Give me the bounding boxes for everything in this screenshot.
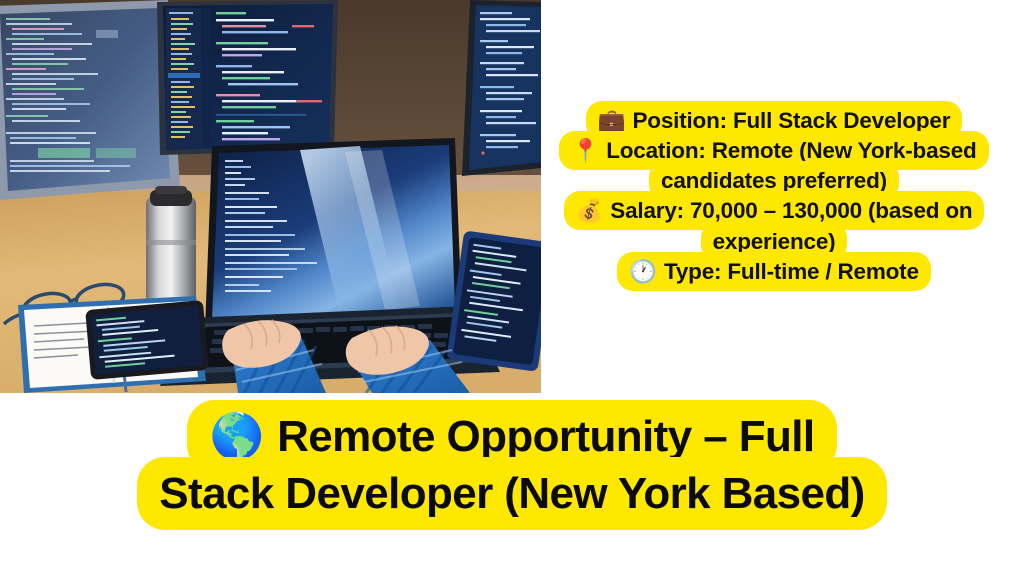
workspace-photo [0,0,541,393]
pin-icon: 📍 [571,138,606,164]
globe-americas-icon: 🌎 [209,411,277,462]
detail-line-type: 🕐 Type: Full-time / Remote [548,257,1000,287]
detail-line-salary: 💰 Salary: 70,000 – 130,000 (based on exp… [548,196,1000,256]
title-text-1: Remote Opportunity – Full [277,412,814,461]
job-post-card: 💼 Position: Full Stack Developer 📍 Locat… [0,0,1024,576]
title-line-1: 🌎 Remote Opportunity – Full [22,408,1002,465]
clock-icon: 🕐 [629,259,664,285]
detail-text-type: Type: Full-time / Remote [664,259,919,284]
money-bag-icon: 💰 [576,198,611,224]
detail-line-position: 💼 Position: Full Stack Developer [548,106,1000,136]
page-title: 🌎 Remote Opportunity – Full Stack Develo… [22,408,1002,522]
title-line-2: Stack Developer (New York Based) [22,465,1002,522]
detail-text-position: Position: Full Stack Developer [632,108,950,133]
job-details-list: 💼 Position: Full Stack Developer 📍 Locat… [548,106,1000,287]
detail-text-salary: Salary: 70,000 – 130,000 (based on exper… [610,198,972,253]
briefcase-icon: 💼 [598,108,633,134]
detail-text-location: Location: Remote (New York-based candida… [606,138,976,193]
title-text-2: Stack Developer (New York Based) [159,469,864,518]
detail-line-location: 📍 Location: Remote (New York-based candi… [548,136,1000,196]
